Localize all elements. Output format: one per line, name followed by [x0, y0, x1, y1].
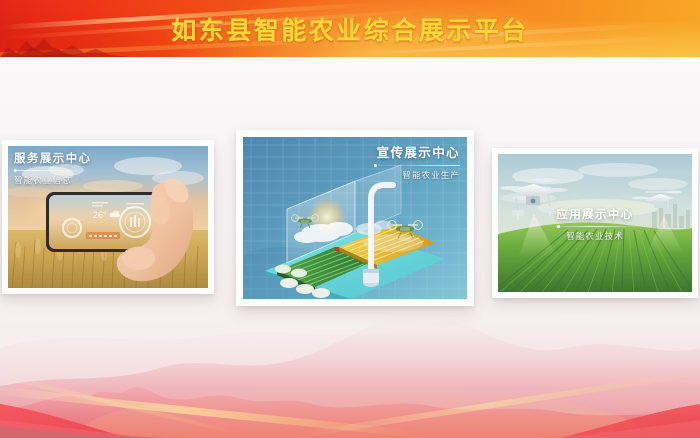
card-service-divider [14, 170, 92, 171]
screen: 如东县智能农业综合展示平台 [0, 0, 700, 438]
card-promo-text: 宣传展示中心 智能农业生产 [374, 142, 460, 181]
card-service-title: 服务展示中心 [14, 150, 92, 166]
card-app-text: 应用展示中心 智能农业技术 [492, 206, 698, 242]
card-app-divider [549, 226, 641, 227]
card-promo-subtitle: 智能农业生产 [374, 169, 460, 181]
divider-dot [14, 169, 17, 172]
card-app-title: 应用展示中心 [492, 206, 698, 222]
card-service-text: 服务展示中心 智能农业信息 [14, 150, 92, 186]
card-application-display-center[interactable]: 应用展示中心 智能农业技术 [492, 148, 698, 298]
card-service-display-center[interactable]: 26° [2, 140, 214, 294]
divider-dot [374, 164, 377, 167]
card-promotion-display-center[interactable]: 宣传展示中心 智能农业生产 [236, 130, 474, 306]
page-title: 如东县智能农业综合展示平台 [0, 0, 700, 57]
divider-dot [557, 225, 560, 228]
card-promo-divider [374, 165, 460, 166]
card-service-subtitle: 智能农业信息 [14, 174, 92, 186]
header-banner: 如东县智能农业综合展示平台 [0, 0, 700, 57]
card-app-subtitle: 智能农业技术 [492, 230, 698, 242]
card-promo-title: 宣传展示中心 [374, 142, 460, 161]
